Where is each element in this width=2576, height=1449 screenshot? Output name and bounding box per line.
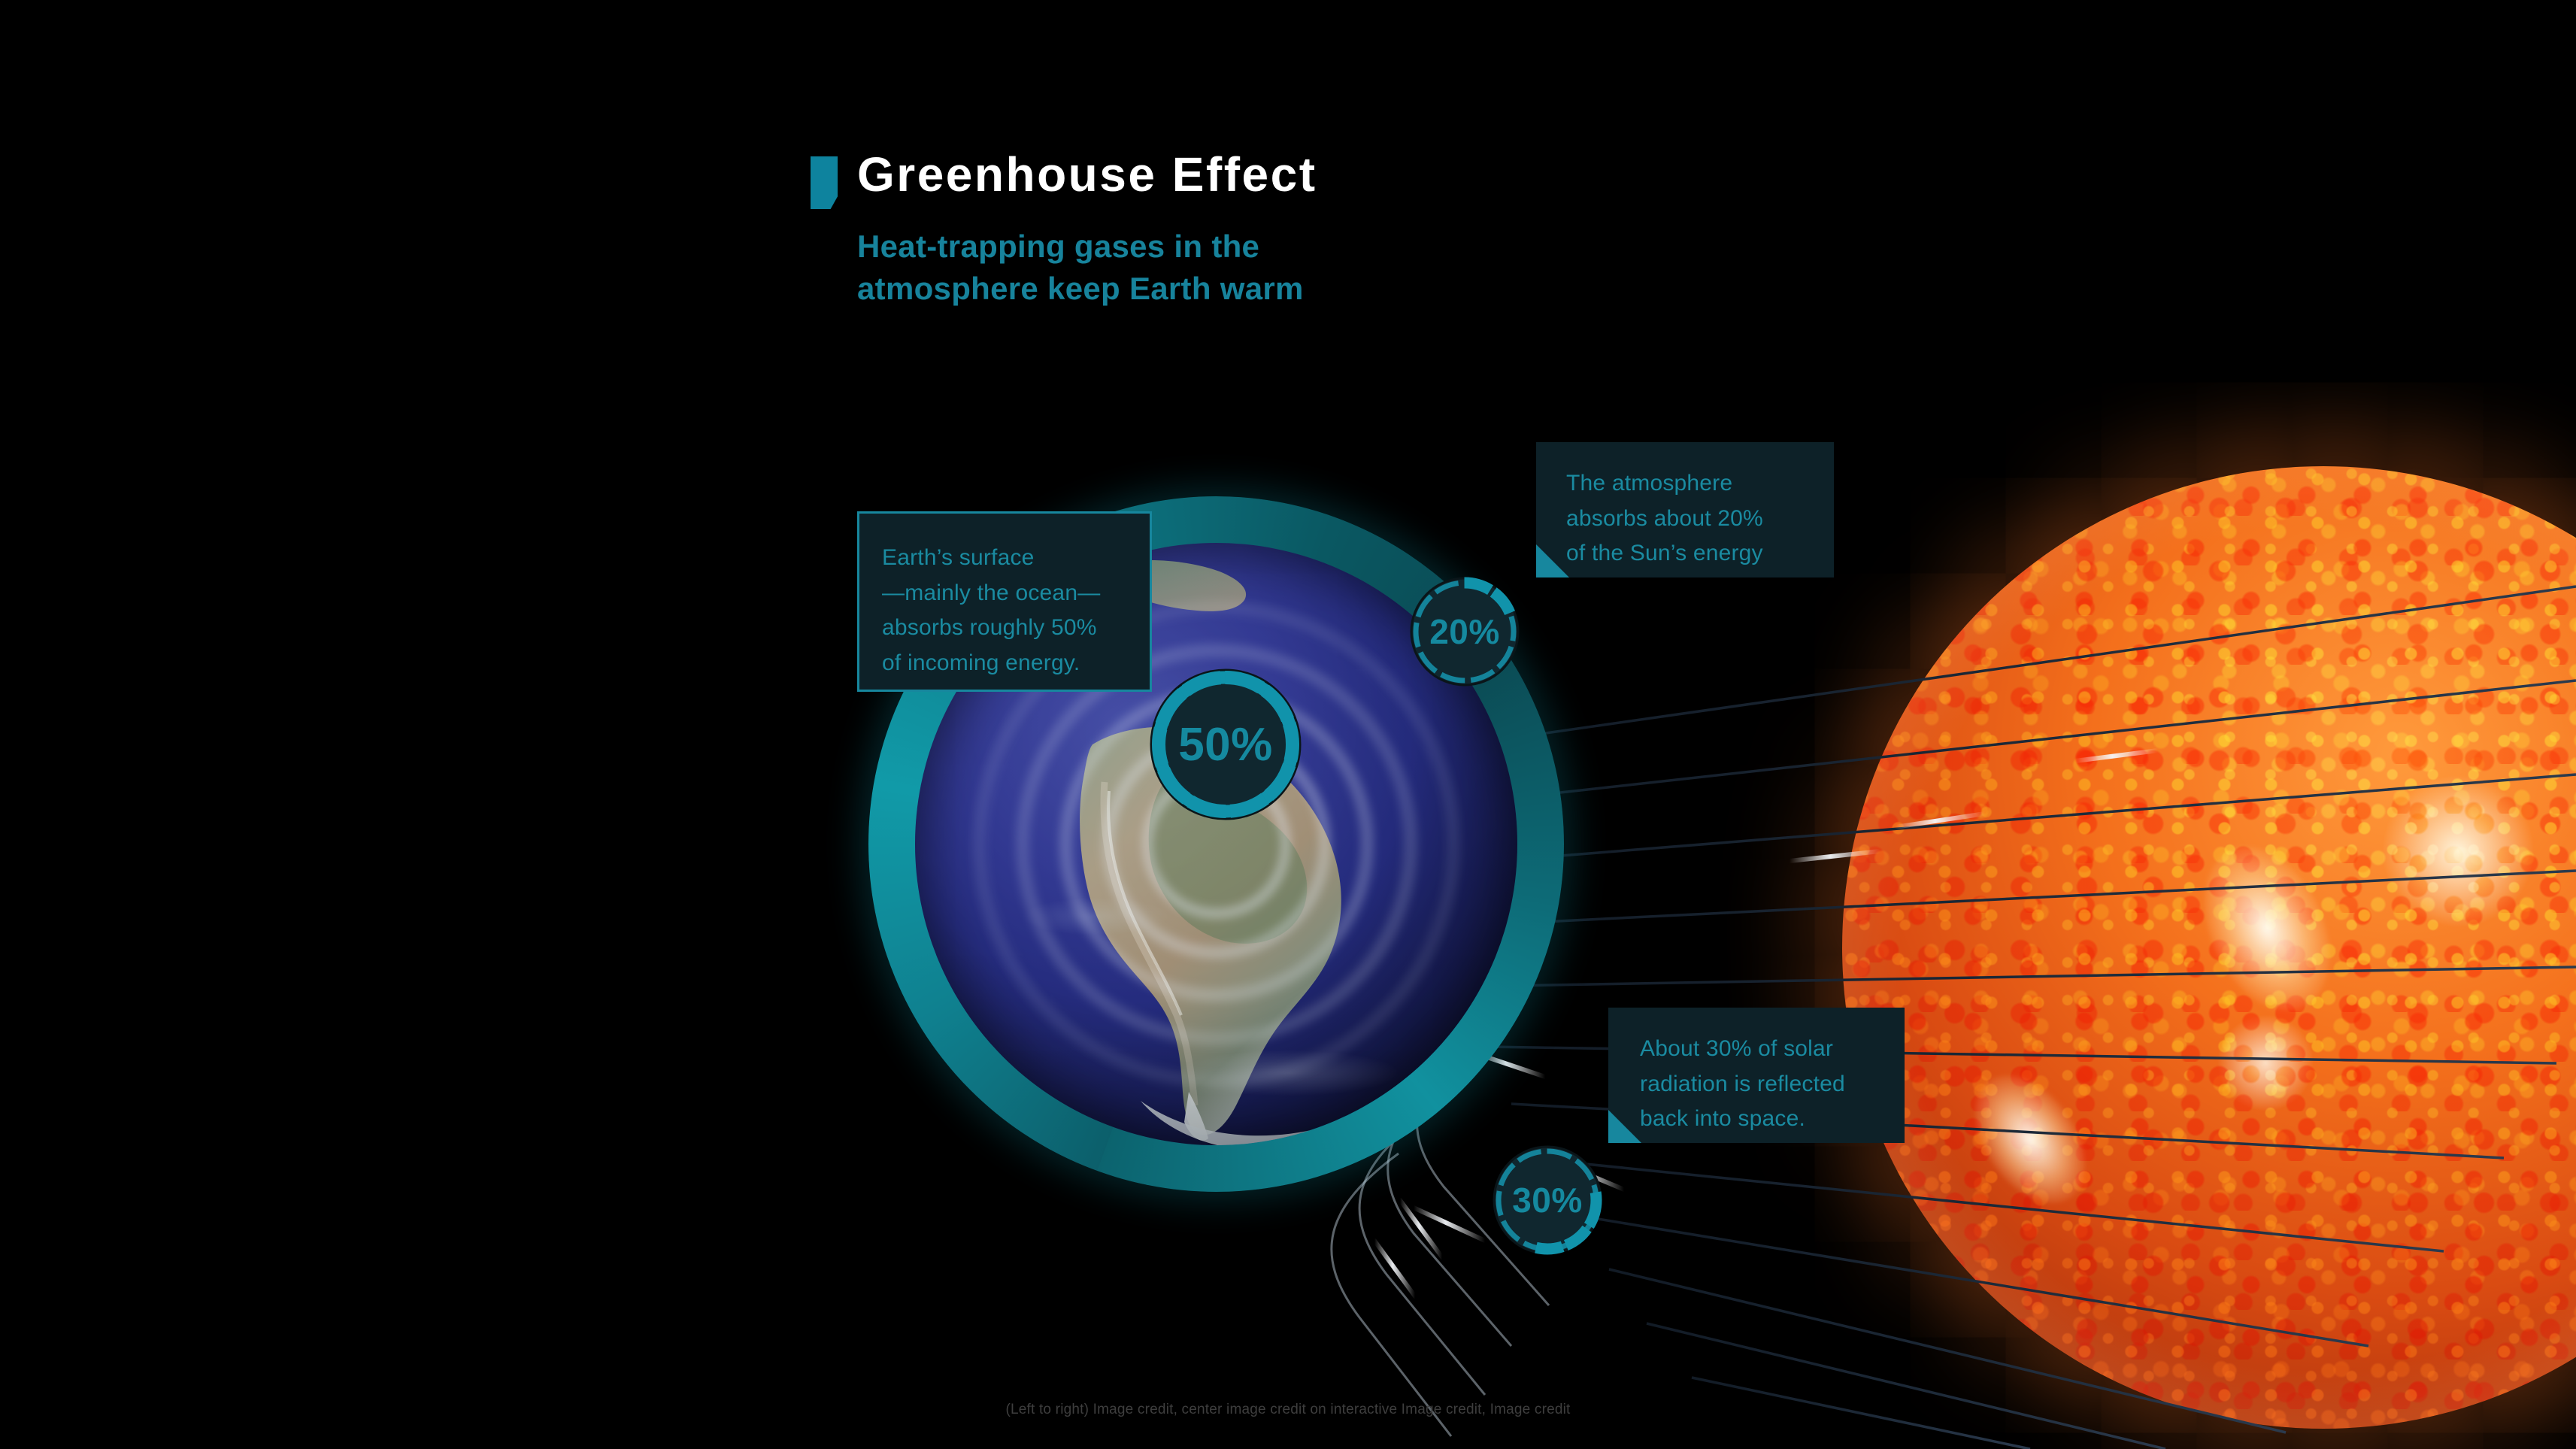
reflection-callout[interactable]: About 30% of solar radiation is reflecte… bbox=[1608, 1008, 1905, 1143]
atmosphere-absorption-callout[interactable]: The atmosphere absorbs about 20% of the … bbox=[1536, 442, 1834, 577]
gauge-50-percent[interactable]: 50% bbox=[1143, 662, 1308, 827]
sun bbox=[1797, 421, 2576, 1449]
callout-line: radiation is reflected bbox=[1640, 1067, 1880, 1102]
callout-line: absorbs roughly 50% bbox=[882, 611, 1124, 646]
callout-line: Earth’s surface bbox=[882, 541, 1124, 576]
callout-line: of the Sun’s energy bbox=[1566, 536, 1811, 571]
earth-surface-callout[interactable]: Earth’s surface —mainly the ocean— absor… bbox=[857, 511, 1152, 692]
gauge-30-label: 30% bbox=[1487, 1140, 1608, 1260]
image-credit: (Left to right) Image credit, center ima… bbox=[0, 1402, 2576, 1418]
earth-surface-callout-text: Earth’s surface —mainly the ocean— absor… bbox=[882, 541, 1124, 681]
gauge-30-percent[interactable]: 30% bbox=[1487, 1140, 1608, 1260]
callout-line: The atmosphere bbox=[1566, 466, 1811, 502]
callout-line: absorbs about 20% bbox=[1566, 502, 1811, 537]
callout-line: back into space. bbox=[1640, 1102, 1880, 1137]
gauge-20-label: 20% bbox=[1405, 571, 1525, 692]
gauge-50-label: 50% bbox=[1143, 662, 1308, 827]
page-title: Greenhouse Effect bbox=[857, 147, 1317, 202]
page-subtitle: Heat-trapping gases in the atmosphere ke… bbox=[857, 226, 1429, 311]
title-accent-bar bbox=[811, 156, 838, 209]
reflection-callout-text: About 30% of solar radiation is reflecte… bbox=[1640, 1032, 1880, 1137]
atmosphere-absorption-callout-text: The atmosphere absorbs about 20% of the … bbox=[1566, 466, 1811, 571]
gauge-20-percent[interactable]: 20% bbox=[1405, 571, 1525, 692]
callout-line: of incoming energy. bbox=[882, 646, 1124, 681]
infographic-stage: 50% 20% 30% Earth’s surface —mainly the … bbox=[0, 0, 2576, 1449]
callout-line: About 30% of solar bbox=[1640, 1032, 1880, 1067]
callout-line: —mainly the ocean— bbox=[882, 576, 1124, 611]
